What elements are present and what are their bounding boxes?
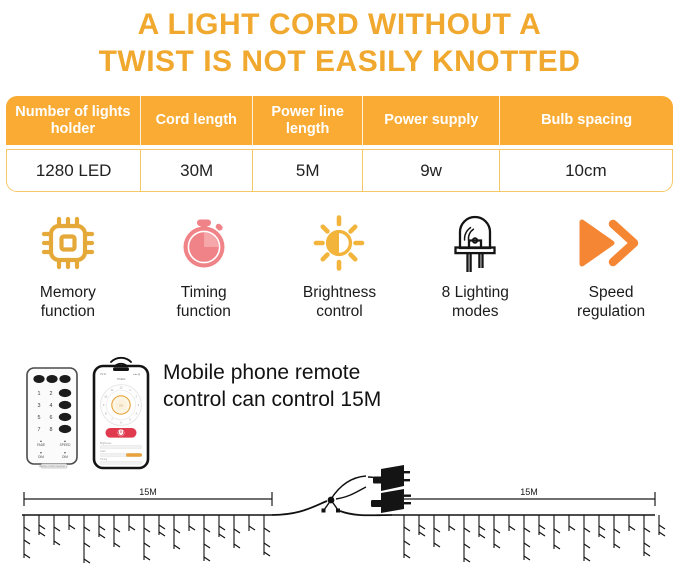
svg-text:2: 2 xyxy=(50,391,53,397)
left-segment-dimension-label: 15M xyxy=(139,487,157,497)
cell-bulb-spacing: 10cm xyxy=(500,150,672,191)
feature-memory-function: Memory function xyxy=(0,212,136,321)
feature-label-timing-function: Timing function xyxy=(177,283,231,321)
feature-label-lighting-modes: 8 Lighting modes xyxy=(442,283,509,321)
column-header-cord-length: Cord length xyxy=(141,96,253,145)
feature-brightness-control: Brightness control xyxy=(272,212,408,321)
headline-line-1: A LIGHT CORD WITHOUT A xyxy=(0,6,679,43)
svg-text:SPEED: SPEED xyxy=(60,443,72,447)
specification-table: Number of lights holder Cord length Powe… xyxy=(6,96,673,192)
svg-text:8: 8 xyxy=(50,427,53,433)
svg-text:1: 1 xyxy=(38,391,41,397)
column-header-power-line-length: Power line length xyxy=(253,96,364,145)
svg-text:11: 11 xyxy=(111,388,114,392)
column-header-lights-holder: Number of lights holder xyxy=(6,96,141,145)
svg-text:ON: ON xyxy=(119,403,123,407)
headline-line-2: TWIST IS NOT EASILY KNOTTED xyxy=(0,43,679,80)
led-bulb-icon xyxy=(448,212,502,274)
feature-timing-function: Timing function xyxy=(136,212,272,321)
svg-text:7: 7 xyxy=(38,427,41,433)
light-string-diagram: 15M xyxy=(0,455,679,571)
sun-brightness-icon xyxy=(308,212,370,274)
svg-text:TIMER: TIMER xyxy=(117,377,126,381)
table-header-row: Number of lights holder Cord length Powe… xyxy=(6,96,673,145)
feature-label-brightness-control: Brightness control xyxy=(303,283,376,321)
chip-icon xyxy=(39,212,97,274)
svg-text:10: 10 xyxy=(104,395,107,399)
headline-block: A LIGHT CORD WITHOUT A TWIST IS NOT EASI… xyxy=(0,0,679,80)
feature-label-memory-function: Memory function xyxy=(40,283,96,321)
stopwatch-icon xyxy=(175,212,233,274)
mobile-control-caption: Mobile phone remote control can control … xyxy=(163,359,381,413)
svg-text:●●● ▮: ●●● ▮ xyxy=(133,373,140,376)
cell-power-supply: 9w xyxy=(363,150,499,191)
svg-text:5: 5 xyxy=(38,415,41,421)
svg-text:FADE: FADE xyxy=(37,443,45,447)
svg-text:09:41: 09:41 xyxy=(100,372,107,376)
svg-text:3: 3 xyxy=(38,403,41,409)
column-header-power-supply: Power supply xyxy=(363,96,500,145)
power-icon xyxy=(106,428,137,438)
svg-text:Color: Color xyxy=(100,450,106,453)
feature-label-speed-regulation: Speed regulation xyxy=(577,283,645,321)
svg-text:6: 6 xyxy=(50,415,53,421)
svg-text:12: 12 xyxy=(120,386,123,390)
cell-cord-length: 30M xyxy=(141,150,253,191)
left-string-segment: 15M xyxy=(22,487,327,563)
mobile-control-section: 12 34 56 78 ▲FADE ▲SPEED ▼DIM ▼DIM remot… xyxy=(0,352,679,472)
cell-power-line-length: 5M xyxy=(253,150,363,191)
right-segment-dimension-label: 15M xyxy=(520,487,538,497)
feature-lighting-modes: 8 Lighting modes xyxy=(407,212,543,321)
double-chevron-icon xyxy=(574,212,648,274)
cell-lights-holder: 1280 LED xyxy=(7,150,141,191)
feature-speed-regulation: Speed regulation xyxy=(543,212,679,321)
cord-splitter-and-plugs xyxy=(322,465,412,515)
svg-text:Brightness: Brightness xyxy=(100,442,112,445)
right-string-segment: 15M xyxy=(392,487,665,562)
power-plug-icon xyxy=(371,489,411,513)
feature-list: Memory function Timing function xyxy=(0,212,679,321)
svg-text:4: 4 xyxy=(50,403,53,409)
table-data-row: 1280 LED 30M 5M 9w 10cm xyxy=(6,149,673,192)
column-header-bulb-spacing: Bulb spacing xyxy=(500,96,673,145)
power-plug-icon xyxy=(373,465,410,491)
